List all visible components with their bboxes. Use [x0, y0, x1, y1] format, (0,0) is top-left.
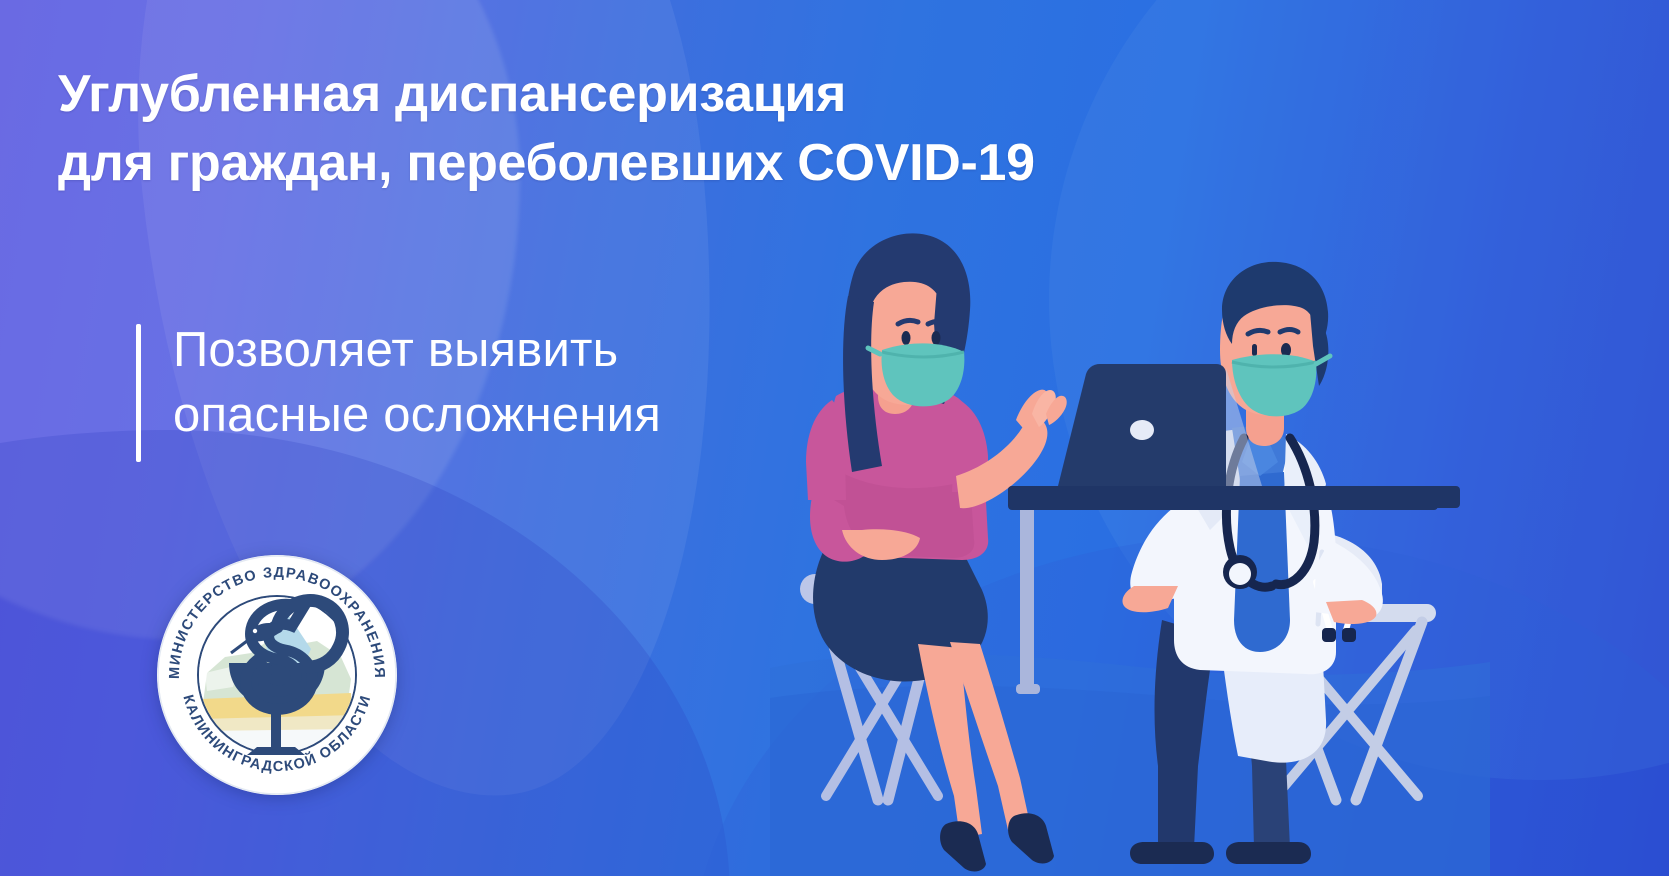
ministry-emblem-logo: МИНИСТЕРСТВО ЗДРАВООХРАНЕНИЯ КАЛИНИНГРАД…: [155, 553, 399, 797]
doctor-consultation-illustration: [770, 200, 1490, 876]
subheadline-block: Позволяет выявить опасные осложнения: [136, 318, 661, 462]
poster-subheadline: Позволяет выявить опасные осложнения: [173, 318, 661, 448]
accent-rule-icon: [136, 324, 141, 462]
poster-headline: Углубленная диспансеризация для граждан,…: [58, 60, 1198, 198]
poster-canvas: Углубленная диспансеризация для граждан,…: [0, 0, 1669, 876]
desk-front-edge: [1008, 486, 1460, 508]
